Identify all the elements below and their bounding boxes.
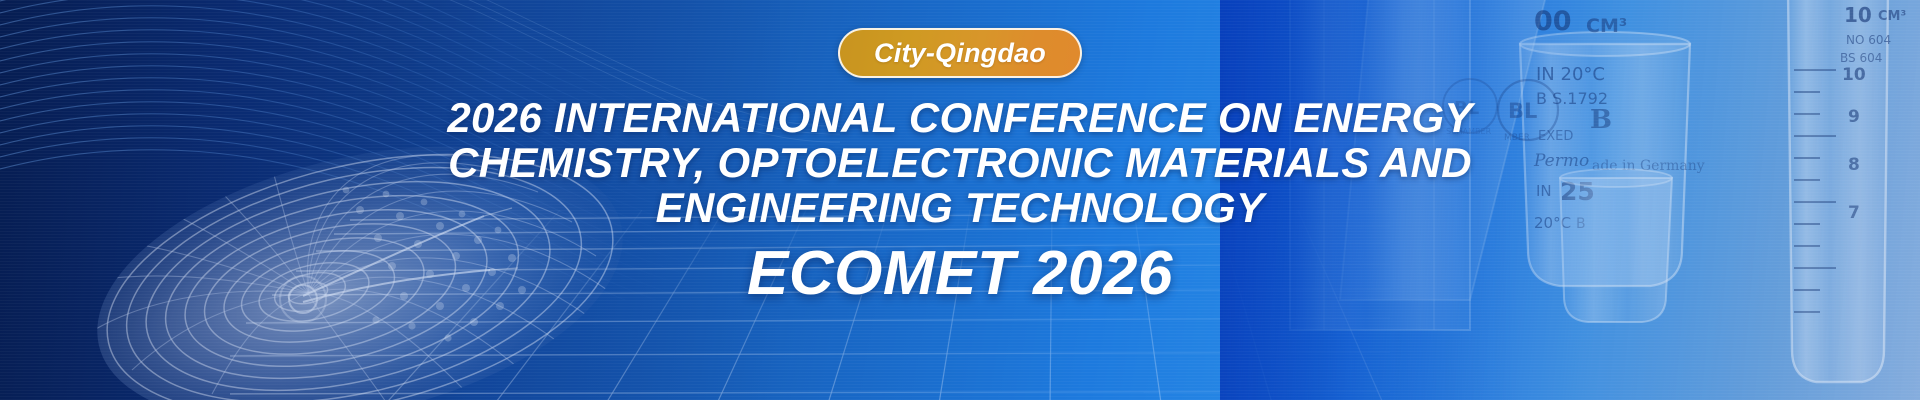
city-badge-label: City-Qingdao [874, 38, 1046, 69]
title-line-2: CHEMISTRY, OPTOELECTRONIC MATERIALS AND [0, 140, 1920, 185]
city-badge: City-Qingdao [838, 28, 1082, 78]
banner-content: City-Qingdao 2026 INTERNATIONAL CONFEREN… [0, 0, 1920, 400]
title-line-3: ENGINEERING TECHNOLOGY [0, 185, 1920, 230]
conference-acronym: ECOMET 2026 [747, 242, 1173, 306]
title-line-1: 2026 INTERNATIONAL CONFERENCE ON ENERGY [0, 95, 1920, 140]
conference-title: 2026 INTERNATIONAL CONFERENCE ON ENERGY … [0, 95, 1920, 230]
conference-banner: 00 CM³ IN 20°C B S.1792 EXED B Permo IN … [0, 0, 1920, 400]
